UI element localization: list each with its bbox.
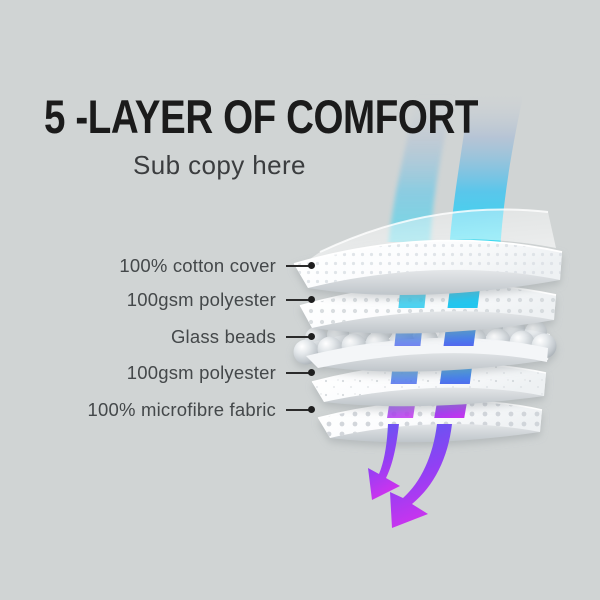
layer-label-glass-beads: Glass beads [0,326,276,348]
leader-dot-2 [308,296,315,303]
leader-line-4 [286,372,310,374]
infographic-canvas: 5 -LAYER OF COMFORT Sub copy here 100% c… [0,0,600,600]
layer-label-cotton-cover: 100% cotton cover [0,255,276,277]
leader-dot-3 [308,333,315,340]
sheet-microfibre [318,401,542,443]
layer-label-polyester-lower: 100gsm polyester [0,362,276,384]
leader-dot-5 [308,406,315,413]
layer-label-microfibre-fabric: 100% microfibre fabric [0,399,276,421]
page-title: 5 -LAYER OF COMFORT [44,92,478,142]
leader-line-3 [286,336,310,338]
leader-line-2 [286,299,310,301]
page-subtitle: Sub copy here [133,150,306,180]
leader-line-1 [286,265,310,267]
leader-line-5 [286,409,310,411]
leader-dot-1 [308,262,315,269]
leader-dot-4 [308,369,315,376]
layer-label-polyester-upper: 100gsm polyester [0,289,276,311]
